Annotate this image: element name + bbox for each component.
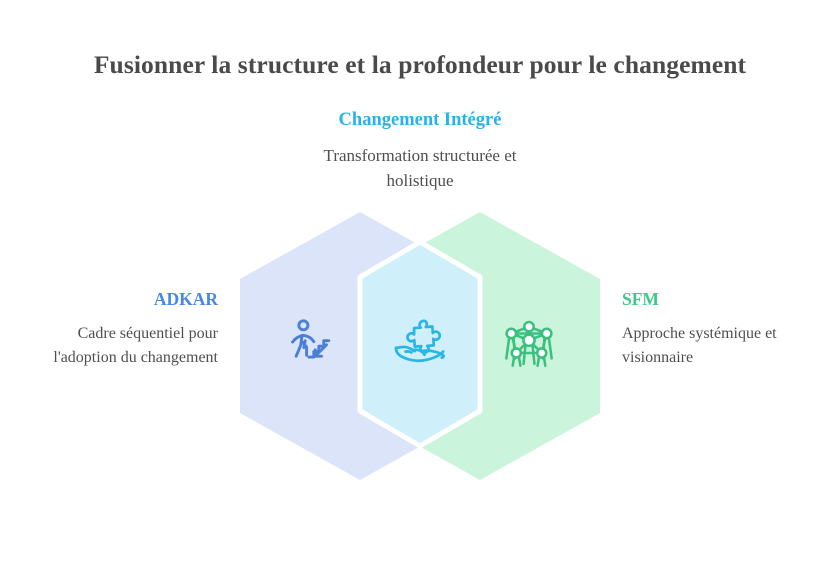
- hexagon-diagram: [0, 0, 840, 564]
- label-block-integrated-change: Changement Intégré Transformation struct…: [300, 108, 540, 193]
- venn-infographic: Fusionner la structure et la profondeur …: [0, 0, 840, 564]
- label-heading-sfm: SFM: [622, 288, 818, 312]
- label-block-sfm: SFM Approche systémique et visionnaire: [622, 288, 818, 370]
- label-heading-integrated-change: Changement Intégré: [300, 108, 540, 132]
- hexagon-center-integrated[interactable]: [360, 242, 480, 446]
- label-description-sfm: Approche systémique et visionnaire: [622, 322, 818, 370]
- label-description-adkar: Cadre séquentiel pour l'adoption du chan…: [26, 322, 218, 370]
- hexagon-shapes: [0, 0, 840, 564]
- label-description-integrated-change: Transformation structurée et holistique: [300, 144, 540, 193]
- label-heading-adkar: ADKAR: [26, 288, 218, 312]
- label-block-adkar: ADKAR Cadre séquentiel pour l'adoption d…: [26, 288, 218, 370]
